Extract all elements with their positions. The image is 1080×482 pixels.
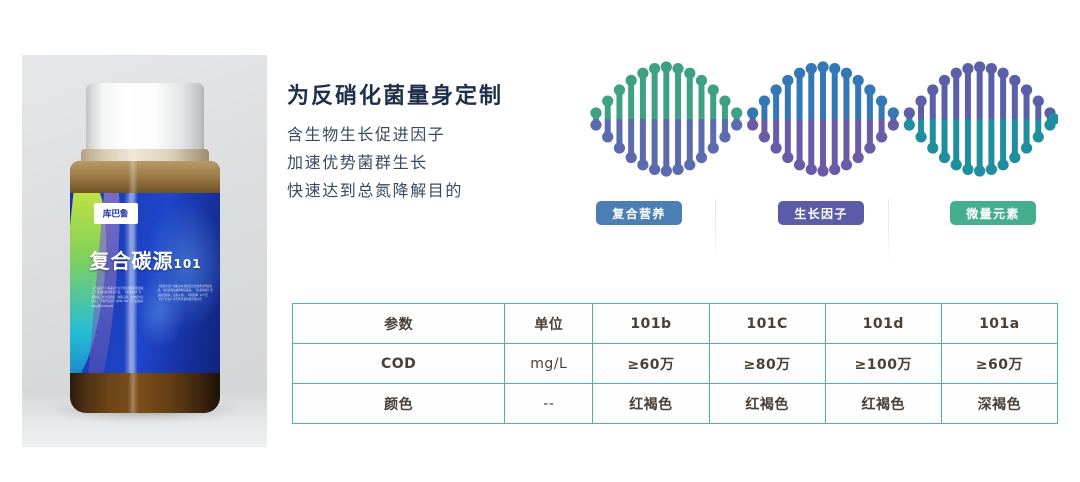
product-bottle: 库巴鲁 复合碳源101 【产品简介】本品是针对污水处理反硝化脱氮工艺研发的复合碳… (59, 83, 231, 413)
spec-row-cod-101d: ≥100万 (825, 344, 941, 384)
spec-row-color-101b: 红褐色 (593, 384, 709, 424)
dna-helix-svg (588, 56, 1058, 182)
subline-2: 加速优势菌群生长 (287, 149, 577, 177)
spec-row-color-101c: 红褐色 (709, 384, 825, 424)
badge-trace-elements[interactable]: 微量元素 (950, 201, 1036, 225)
spec-row-cod-101c: ≥80万 (709, 344, 825, 384)
spec-row-color-101a: 深褐色 (941, 384, 1057, 424)
badge-divider-1 (715, 199, 716, 263)
subline-3: 快速达到总氮降解目的 (287, 177, 577, 205)
badge-trace-elements-label: 微量元素 (966, 205, 1020, 222)
badge-composite-nutrition-label: 复合营养 (612, 205, 666, 222)
spec-header-unit: 单位 (505, 304, 593, 344)
subline-1: 含生物生长促进因子 (287, 121, 577, 149)
badge-divider-2 (888, 199, 889, 263)
badge-composite-nutrition[interactable]: 复合营养 (596, 201, 682, 225)
spec-table-header-row: 参数 单位 101b 101C 101d 101a (293, 304, 1058, 344)
table-row: 颜色 -- 红褐色 红褐色 红褐色 深褐色 (293, 384, 1058, 424)
bottle-cap (86, 83, 204, 155)
headline-block: 为反硝化菌量身定制 含生物生长促进因子 加速优势菌群生长 快速达到总氮降解目的 (287, 84, 577, 205)
liquid-surface (70, 161, 220, 195)
spec-row-cod-101b: ≥60万 (593, 344, 709, 384)
spec-row-cod-101a: ≥60万 (941, 344, 1057, 384)
bottle-label: 库巴鲁 复合碳源101 【产品简介】本品是针对污水处理反硝化脱氮工艺研发的复合碳… (70, 193, 220, 373)
spec-row-color-101d: 红褐色 (825, 384, 941, 424)
label-product-name: 复合碳源101 (90, 245, 202, 274)
product-photo: 库巴鲁 复合碳源101 【产品简介】本品是针对污水处理反硝化脱氮工艺研发的复合碳… (22, 55, 267, 447)
spec-row-cod-param: COD (293, 344, 505, 384)
label-fine-print-right: 【使用方法】根据进水总氮及出水要求计算投加量，可直接投加或稀释后投加。 【注意事… (158, 285, 214, 303)
spec-header-101d: 101d (825, 304, 941, 344)
page-title: 为反硝化菌量身定制 (287, 84, 577, 110)
bottle-highlight (128, 161, 138, 413)
feature-badge-row: 复合营养 生长因子 微量元素 (588, 201, 1058, 267)
spec-header-101a: 101a (941, 304, 1057, 344)
spec-row-cod-unit: mg/L (505, 344, 593, 384)
spec-row-color-param: 颜色 (293, 384, 505, 424)
badge-growth-factor[interactable]: 生长因子 (778, 201, 864, 225)
bottle-body: 库巴鲁 复合碳源101 【产品简介】本品是针对污水处理反硝化脱氮工艺研发的复合碳… (70, 161, 220, 413)
spec-row-color-unit: -- (505, 384, 593, 424)
table-row: COD mg/L ≥60万 ≥80万 ≥100万 ≥60万 (293, 344, 1058, 384)
dna-helix-illustration (588, 56, 1058, 182)
spec-header-param: 参数 (293, 304, 505, 344)
label-product-model: 101 (174, 257, 202, 271)
spec-header-101b: 101b (593, 304, 709, 344)
badge-growth-factor-label: 生长因子 (794, 205, 848, 222)
spec-header-101c: 101C (709, 304, 825, 344)
spec-table: 参数 单位 101b 101C 101d 101a COD mg/L ≥60万 … (292, 303, 1058, 424)
